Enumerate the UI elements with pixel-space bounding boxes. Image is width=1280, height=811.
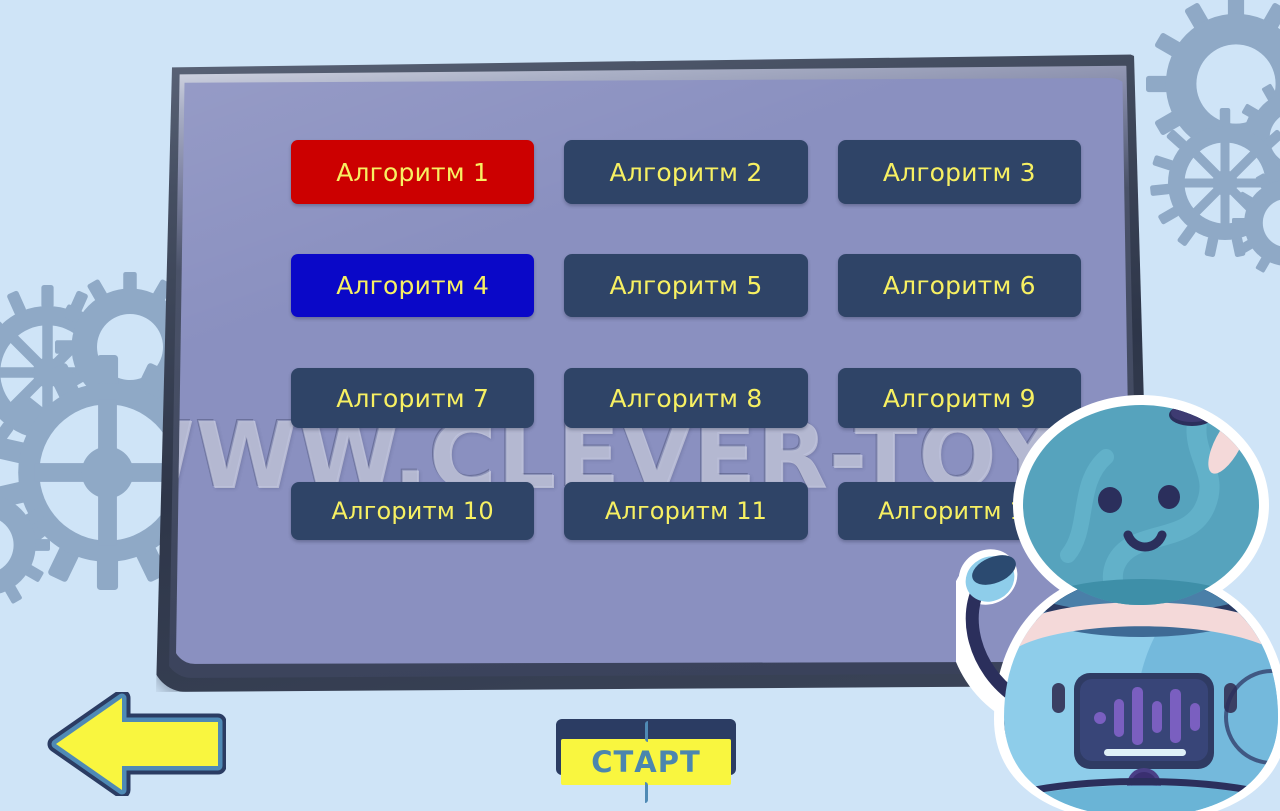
start-button-inner-border: СТАРТ bbox=[561, 721, 731, 803]
algorithm-button-9[interactable]: Алгоритм 9 bbox=[838, 368, 1081, 428]
algorithm-button-4[interactable]: Алгоритм 4 bbox=[291, 254, 534, 317]
app-stage: WWW.CLEVER-TOY.RU Алгоритм 1 Алгоритм 2 … bbox=[0, 0, 1280, 811]
back-arrow-icon bbox=[46, 692, 226, 796]
algorithm-button-grid: Алгоритм 1 Алгоритм 2 Алгоритм 3 Алгорит… bbox=[291, 140, 1081, 546]
algorithm-button-7[interactable]: Алгоритм 7 bbox=[291, 368, 534, 428]
algorithm-button-6[interactable]: Алгоритм 6 bbox=[838, 254, 1081, 317]
algorithm-button-11[interactable]: Алгоритм 11 bbox=[564, 482, 807, 540]
robot-hand bbox=[1061, 698, 1130, 762]
algorithm-button-2[interactable]: Алгоритм 2 bbox=[564, 140, 807, 204]
algorithm-button-10[interactable]: Алгоритм 10 bbox=[291, 482, 534, 540]
robot-eye-right bbox=[1158, 485, 1180, 509]
algorithm-button-3[interactable]: Алгоритм 3 bbox=[838, 140, 1081, 204]
start-button[interactable]: СТАРТ bbox=[556, 719, 736, 775]
algorithm-button-5[interactable]: Алгоритм 5 bbox=[564, 254, 807, 317]
robot-audio-bars bbox=[1094, 687, 1200, 745]
back-button[interactable] bbox=[46, 692, 226, 796]
console-panel: WWW.CLEVER-TOY.RU Алгоритм 1 Алгоритм 2 … bbox=[152, 52, 1152, 692]
panel-screen: WWW.CLEVER-TOY.RU Алгоритм 1 Алгоритм 2 … bbox=[173, 78, 1132, 664]
algorithm-button-12[interactable]: Алгоритм 12 bbox=[838, 482, 1081, 540]
algorithm-button-8[interactable]: Алгоритм 8 bbox=[564, 368, 807, 428]
algorithm-button-1[interactable]: Алгоритм 1 bbox=[291, 140, 534, 204]
start-button-label: СТАРТ bbox=[561, 739, 731, 785]
